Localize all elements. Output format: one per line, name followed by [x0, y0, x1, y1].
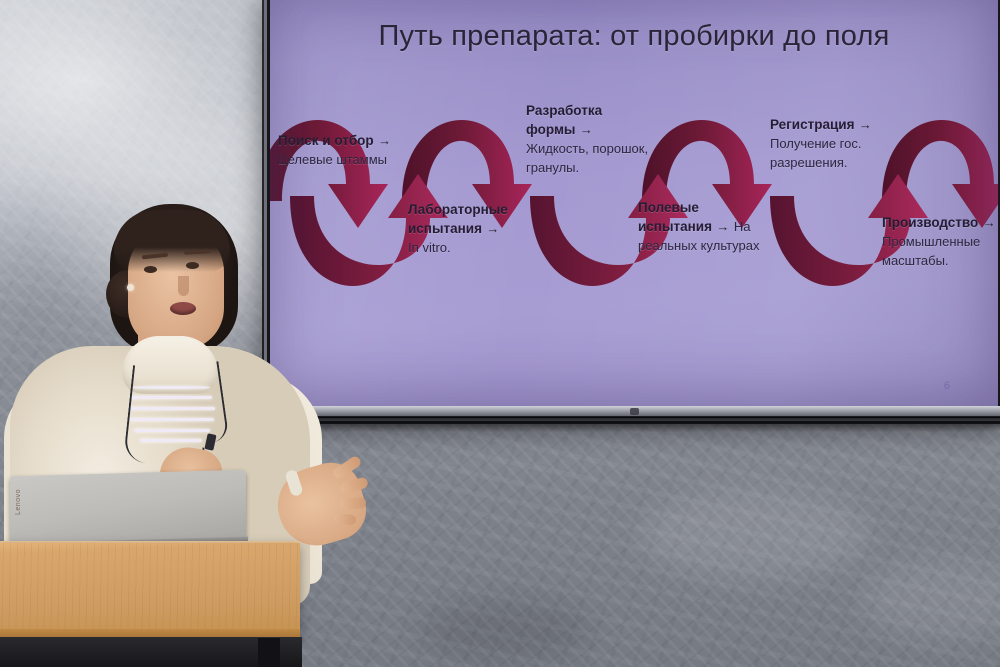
- step-label-production: Производство → Промышленные масштабы.: [882, 214, 996, 271]
- step-detail: На: [734, 219, 751, 234]
- step-heading: Производство: [882, 215, 978, 230]
- presenter-eye-right: [186, 262, 199, 269]
- step-heading: Лабораторные: [408, 202, 508, 217]
- step-detail-line2: масштабы.: [882, 253, 949, 268]
- arrow-glyph-icon: →: [859, 117, 872, 132]
- step-heading-line2: испытания: [638, 219, 712, 234]
- step-heading-line2: испытания: [408, 221, 482, 236]
- presenter-eye-left: [144, 266, 157, 273]
- floor-shadow: [0, 637, 302, 667]
- slide-vignette: [270, 0, 998, 408]
- necklace-strand: [140, 439, 202, 442]
- step-detail: In vitro.: [408, 240, 451, 255]
- presenter-hair-front: [114, 210, 230, 272]
- arrow-glyph-icon: →: [378, 133, 391, 148]
- laptop-brand-logo: Lenovo: [15, 489, 23, 515]
- wall-blotch: [420, 600, 590, 660]
- step-heading: Регистрация: [770, 117, 854, 132]
- presenter-mouth: [170, 302, 196, 315]
- wall-blotch: [640, 490, 870, 580]
- step-detail-line2: гранулы.: [526, 160, 579, 175]
- laptop: [10, 470, 246, 547]
- step-label-field: Полевые испытания → На реальных культура…: [638, 199, 760, 256]
- step-detail-line2: разрешения.: [770, 155, 848, 170]
- presenter-nose: [178, 276, 189, 296]
- step-label-lab: Лабораторные испытания → In vitro.: [408, 201, 508, 258]
- arrow-glyph-icon: →: [486, 221, 499, 236]
- tv-drop-shadow: [262, 416, 1000, 432]
- arrow-glyph-icon: →: [983, 215, 996, 230]
- presenter-earring: [127, 284, 134, 291]
- step-heading: Полевые: [638, 200, 699, 215]
- step-detail-line2: реальных культурах: [638, 238, 760, 253]
- step-detail: Промышленные: [882, 234, 980, 249]
- tv-ir-sensor-icon: [630, 408, 639, 415]
- podium-wood-grain: [0, 543, 300, 638]
- arrow-glyph-icon: →: [716, 219, 729, 234]
- step-detail: Целевые штаммы: [278, 152, 387, 167]
- podium: [0, 543, 300, 638]
- arrow-glyph-icon: →: [580, 122, 593, 137]
- step-detail: Получение гос.: [770, 136, 861, 151]
- step-label-search: Поиск и отбор → Целевые штаммы: [278, 132, 391, 170]
- slide-page-number: 6: [944, 380, 950, 392]
- presenter-finger: [340, 497, 367, 510]
- step-detail: Жидкость, порошок,: [526, 141, 648, 156]
- step-heading: Поиск и отбор: [278, 133, 374, 148]
- step-label-registration: Регистрация → Получение гос. разрешения.: [770, 116, 872, 173]
- screenshot-root: Путь препарата: от пробирки до поля: [0, 0, 1000, 667]
- podium-leg: [258, 638, 280, 667]
- step-label-form: Разработка формы → Жидкость, порошок, гр…: [526, 102, 648, 178]
- presentation-slide: Путь препарата: от пробирки до поля: [270, 0, 998, 408]
- step-heading: Разработка: [526, 103, 602, 118]
- step-heading-line2: формы: [526, 122, 575, 137]
